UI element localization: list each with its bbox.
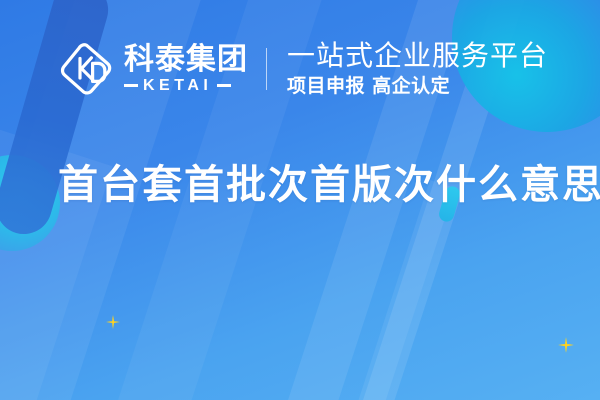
tagline-primary: 一站式企业服务平台 xyxy=(287,40,548,72)
diagonal-band xyxy=(300,180,455,400)
page-title: 首台套首批次首版次什么意思 xyxy=(58,152,600,210)
tagline-block: 一站式企业服务平台 项目申报 高企认定 xyxy=(287,40,548,98)
kd-logo-icon xyxy=(60,42,114,96)
logo-company-name-cn: 科泰集团 xyxy=(124,44,248,76)
logo-wordmark: 科泰集团 KETAI xyxy=(124,44,248,94)
cyan-circle-left-icon xyxy=(0,155,60,251)
banner-header: 科泰集团 KETAI 一站式企业服务平台 项目申报 高企认定 xyxy=(60,34,548,104)
header-divider xyxy=(266,48,267,90)
tagline-secondary: 项目申报 高企认定 xyxy=(287,76,548,98)
logo-dash-left-icon xyxy=(124,84,138,87)
logo-dash-right-icon xyxy=(217,84,231,87)
logo-english-row: KETAI xyxy=(124,78,248,94)
logo-company-name-en: KETAI xyxy=(143,78,212,94)
promotional-banner: 科泰集团 KETAI 一站式企业服务平台 项目申报 高企认定 首台套首批次首版次… xyxy=(0,0,600,400)
